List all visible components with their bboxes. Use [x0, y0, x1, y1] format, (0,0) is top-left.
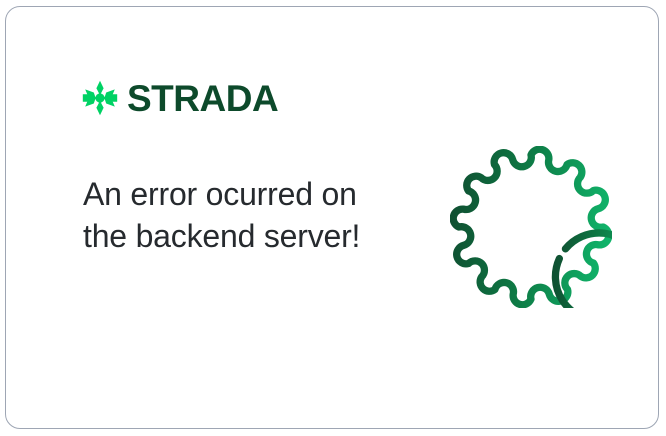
error-card: STRADA An error ocurred on the backend s… [5, 6, 659, 429]
brand-wordmark: STRADA [127, 80, 278, 117]
strada-asterisk-icon [82, 80, 118, 116]
gear-icon [450, 146, 612, 308]
error-message: An error ocurred on the backend server! [83, 173, 373, 257]
brand-logo: STRADA [82, 79, 278, 116]
